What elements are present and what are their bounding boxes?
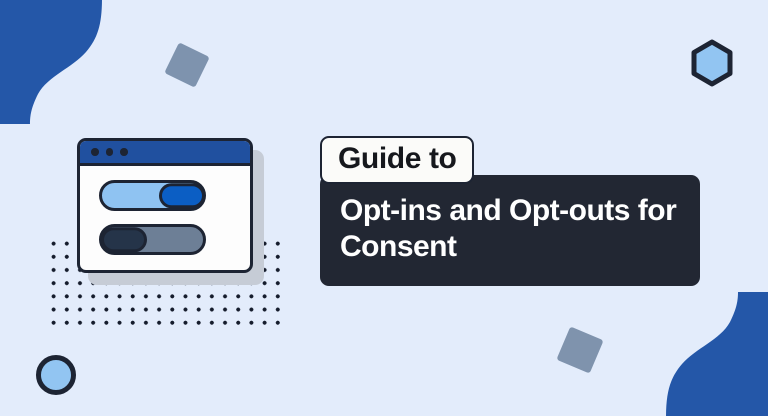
decorative-circle [36,355,76,395]
titlebar-dot-1-icon [91,148,99,156]
browser-titlebar [80,141,250,166]
decorative-square-bottom [556,326,603,373]
decorative-square-top [164,42,209,87]
decorative-hexagon [690,39,734,87]
toggle-knob-on [159,183,205,209]
eyebrow-badge: Guide to [320,136,474,184]
banner-canvas: Guide to Opt-ins and Opt-outs for Consen… [0,0,768,416]
blue-blob-top-left [0,0,120,124]
browser-content-area [80,166,250,255]
opt-out-toggle-off[interactable] [99,224,206,255]
toggle-knob-off [101,227,147,253]
headline-panel: Opt-ins and Opt-outs for Consent [320,175,700,286]
titlebar-dot-2-icon [106,148,114,156]
browser-window-illustration [77,138,253,273]
headline-block: Guide to Opt-ins and Opt-outs for Consen… [320,136,720,286]
blue-blob-bottom-right [646,292,768,416]
titlebar-dot-3-icon [120,148,128,156]
headline-title: Opt-ins and Opt-outs for Consent [340,193,680,266]
opt-in-toggle-on[interactable] [99,180,206,211]
